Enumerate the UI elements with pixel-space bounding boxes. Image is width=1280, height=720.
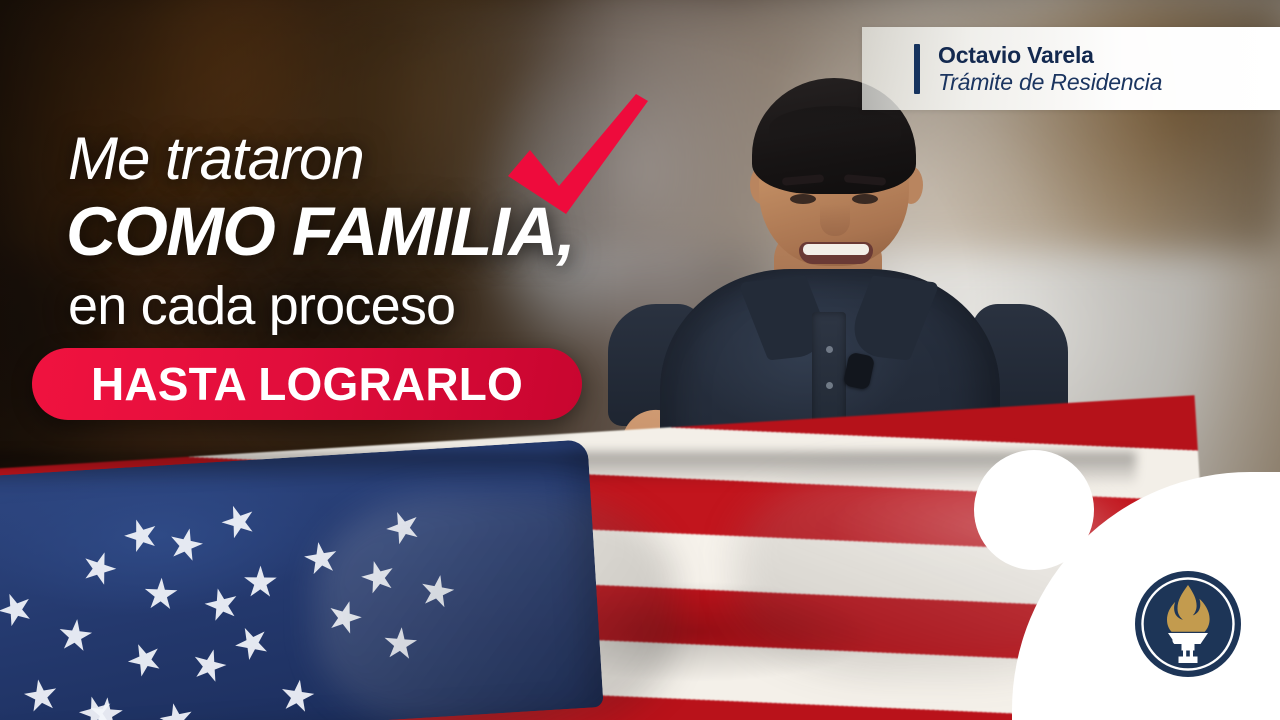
accent-bar: [914, 44, 920, 94]
person-eye-right: [852, 194, 878, 204]
headline-line-3: en cada proceso: [68, 275, 455, 337]
cta-label: HASTA LOGRARLO: [91, 361, 523, 407]
speaker-name-banner: Octavio Varela Trámite de Residencia: [862, 27, 1280, 110]
flag-fold: [316, 492, 676, 720]
person-shirt-button: [826, 346, 833, 353]
speaker-subtitle: Trámite de Residencia: [938, 70, 1162, 95]
usa-flag-icon: [0, 452, 1136, 720]
speaker-name: Octavio Varela: [938, 43, 1162, 68]
speaker-name-block: Octavio Varela Trámite de Residencia: [938, 43, 1162, 95]
testimonial-banner: Octavio Varela Trámite de Residencia Me …: [0, 0, 1280, 720]
flag-top-edge: [0, 452, 1136, 486]
headline-line-1: Me trataron: [68, 124, 364, 193]
logo-backplate: [974, 450, 1094, 570]
torch-logo-icon[interactable]: [1126, 562, 1250, 686]
cta-pill[interactable]: HASTA LOGRARLO: [32, 348, 582, 420]
person-shirt-placket: [812, 312, 846, 428]
person-shirt-button: [826, 382, 833, 389]
person-teeth: [803, 244, 869, 255]
person-mouth: [799, 242, 873, 264]
headline-line-2: COMO FAMILIA,: [66, 192, 574, 271]
person-nose: [820, 204, 850, 236]
check-icon: [500, 88, 650, 218]
person-hair-fringe: [769, 106, 901, 150]
person-eye-left: [790, 194, 816, 204]
